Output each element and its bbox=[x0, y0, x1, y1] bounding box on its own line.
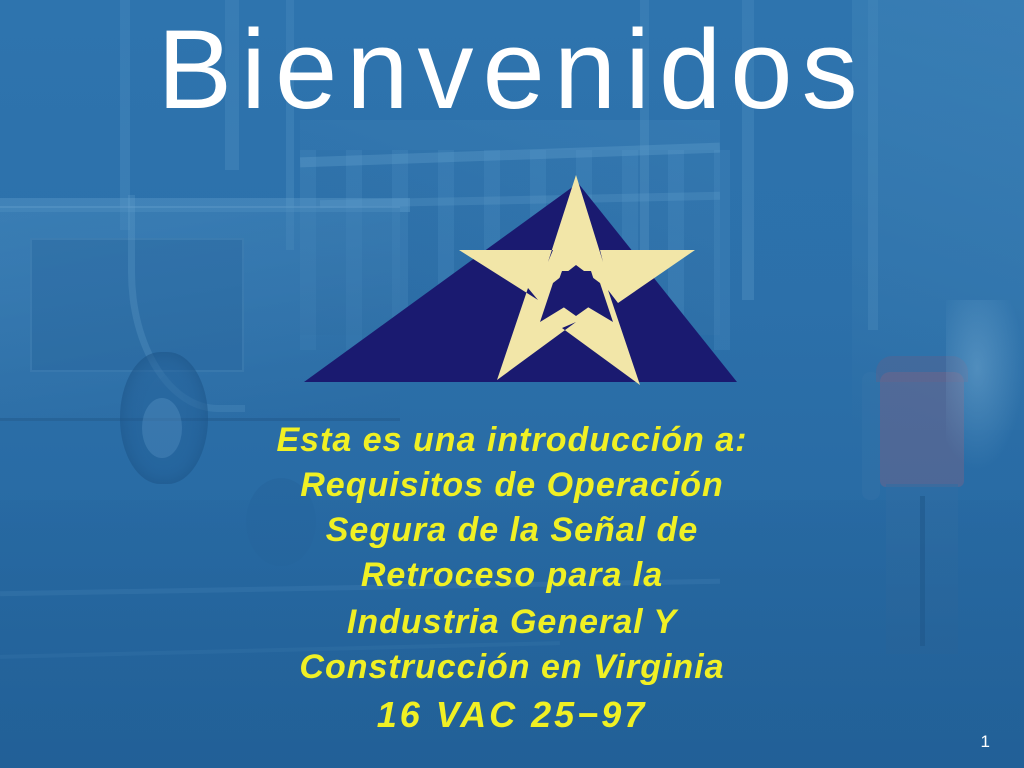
slide-page-number: 1 bbox=[981, 733, 990, 750]
subtitle-line: Segura de la Señal de bbox=[0, 508, 1024, 553]
subtitle-line: Requisitos de Operación bbox=[0, 463, 1024, 508]
subtitle-line: Industria General Y bbox=[0, 600, 1024, 645]
subtitle-block-scope: Industria General Y Construcción en Virg… bbox=[0, 600, 1024, 690]
star-triangle-icon bbox=[300, 170, 745, 388]
subtitle-block-intro: Esta es una introducción a: Requisitos d… bbox=[0, 418, 1024, 598]
regulation-citation: 16 VAC 25−97 bbox=[0, 692, 1024, 737]
page-title: Bienvenidos bbox=[0, 10, 1024, 131]
subtitle-line: Construcción en Virginia bbox=[0, 645, 1024, 690]
subtitle-line: Retroceso para la bbox=[0, 553, 1024, 598]
subtitle-block-citation: 16 VAC 25−97 bbox=[0, 692, 1024, 737]
virginia-doli-logo bbox=[300, 170, 745, 388]
subtitle-line: Esta es una introducción a: bbox=[0, 418, 1024, 463]
presentation-slide: Bienvenidos Esta es una introducción a: … bbox=[0, 0, 1024, 768]
